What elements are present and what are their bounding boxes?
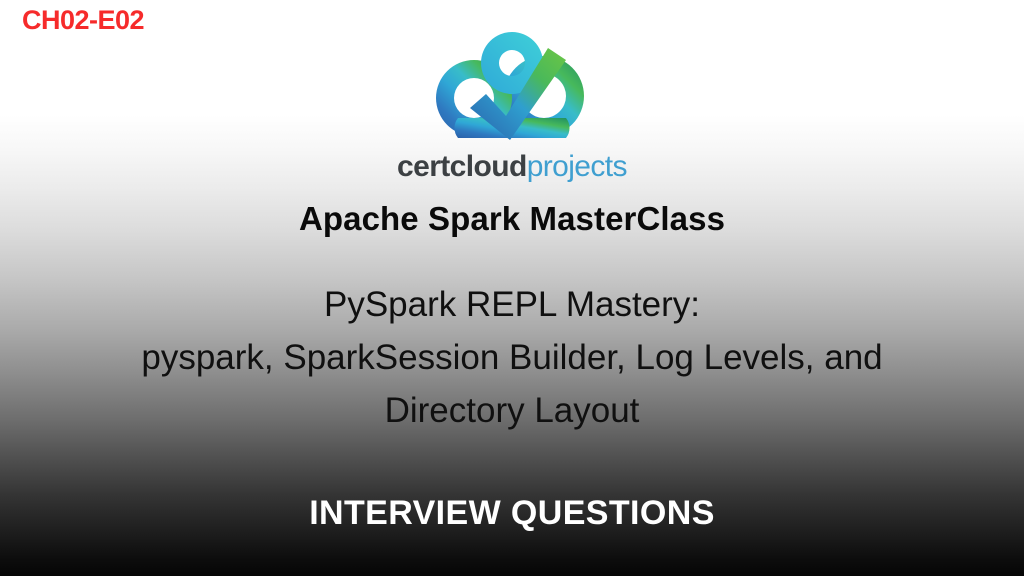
episode-subtitle: PySpark REPL Mastery: pyspark, SparkSess… [60, 278, 964, 437]
cloud-check-icon [424, 22, 600, 146]
section-label: INTERVIEW QUESTIONS [0, 494, 1024, 533]
brand-logo-block: certcloudprojects [0, 22, 1024, 182]
course-title: Apache Spark MasterClass [0, 200, 1024, 238]
wordmark-primary: certcloud [397, 150, 527, 183]
title-slide: CH02-E02 [0, 0, 1024, 576]
brand-wordmark: certcloudprojects [397, 152, 627, 182]
subtitle-line-1: PySpark REPL Mastery: [60, 278, 964, 331]
wordmark-secondary: projects [527, 150, 627, 183]
subtitle-line-3: Directory Layout [60, 384, 964, 437]
subtitle-line-2: pyspark, SparkSession Builder, Log Level… [60, 331, 964, 384]
